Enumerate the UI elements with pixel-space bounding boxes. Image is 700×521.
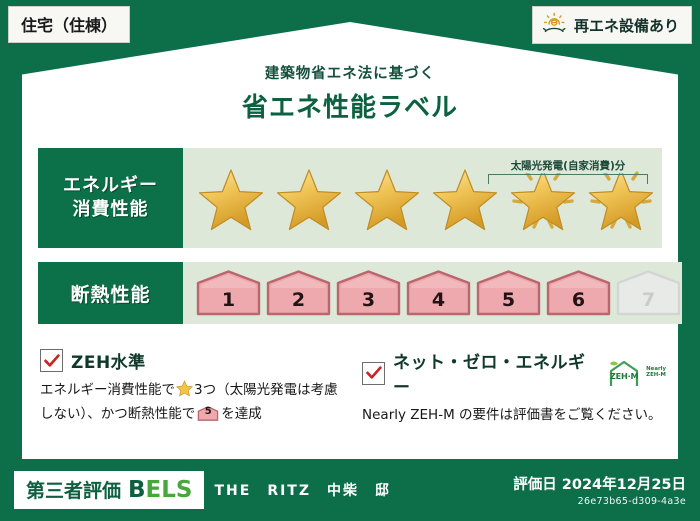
red-check-icon <box>362 362 385 385</box>
gold-star-icon-inline <box>176 385 193 401</box>
zeh-m-logo-sublabel: Nearly ZEH-M <box>646 367 666 378</box>
insulation-level-value: 3 <box>335 270 402 316</box>
renewable-equipment-badge: 再エネ設備あり <box>532 6 692 44</box>
insulation-level-value: 2 <box>265 270 332 316</box>
building-type-tag: 住宅（住棟） <box>8 6 130 43</box>
gold-star-icon <box>271 160 347 236</box>
bels-third-party-label: 第三者評価 <box>26 476 121 503</box>
zeh-standard-title: ZEH水準 <box>71 348 146 373</box>
insulation-level-value: 7 <box>615 270 682 316</box>
insulation-rating-field: 1234567 <box>183 262 682 324</box>
zeh-m-logo-text: ZEH·M <box>604 371 644 381</box>
net-zero-energy-heading: ネット・ゼロ・エネルギー ZEH·M Nearly ZEH-M <box>362 348 666 398</box>
criteria-info-block: ZEH水準 エネルギー消費性能で3つ（太陽光発電は考慮しない）、かつ断熱性能で5… <box>40 348 666 426</box>
zeh-m-logo-house: ZEH·M <box>604 359 644 387</box>
evaluation-id: 26e73b65-d309-4a3e <box>513 496 686 507</box>
evaluation-date: 評価日 2024年12月25日 <box>513 473 686 494</box>
energy-label-line2: 消費性能 <box>73 198 149 222</box>
insulation-level-6: 6 <box>545 270 612 316</box>
zeh-desc-part3: を達成 <box>221 406 262 422</box>
insulation-performance-row-label: 断熱性能 <box>38 262 183 324</box>
label-footer: 第三者評価 BELS THE RITZ 中柴 邸 評価日 2024年12月25日… <box>0 459 700 521</box>
insulation-level-2: 2 <box>265 270 332 316</box>
gold-star-sparkle-icon <box>583 160 659 236</box>
property-name: THE RITZ 中柴 邸 <box>214 480 391 500</box>
gold-star-icon <box>427 160 503 236</box>
zeh-standard-heading: ZEH水準 <box>40 348 338 373</box>
insulation-level-5: 5 <box>475 270 542 316</box>
insulation-level-7: 7 <box>615 270 682 316</box>
renewable-equipment-badge-label: 再エネ設備あり <box>574 15 679 36</box>
insulation-level-value: 4 <box>405 270 472 316</box>
insulation-level-4: 4 <box>405 270 472 316</box>
zeh-standard-description: エネルギー消費性能で3つ（太陽光発電は考慮しない）、かつ断熱性能で5を達成 <box>40 380 338 425</box>
evaluation-meta: 評価日 2024年12月25日 26e73b65-d309-4a3e <box>513 473 686 507</box>
net-zero-energy-column: ネット・ゼロ・エネルギー ZEH·M Nearly ZEH-M N <box>362 348 666 426</box>
zeh-desc-part1: エネルギー消費性能で <box>40 382 175 398</box>
energy-performance-row: エネルギー 消費性能 太陽光発電(自家消費)分 <box>38 148 662 248</box>
label-subtitle: 建築物省エネ法に基づく <box>0 62 700 83</box>
zeh-m-logo: ZEH·M Nearly ZEH-M <box>604 359 666 387</box>
red-check-icon <box>40 349 63 372</box>
net-zero-energy-description: Nearly ZEH-M の要件は評価書をご覧ください。 <box>362 405 666 426</box>
insulation-level-3: 3 <box>335 270 402 316</box>
label-main-title: 省エネ性能ラベル <box>0 87 700 124</box>
bels-wordmark-b: B <box>128 477 146 503</box>
bels-certification-mark: 第三者評価 BELS <box>14 471 204 509</box>
insulation-level-value: 5 <box>475 270 542 316</box>
gold-star-icon <box>193 160 269 236</box>
gold-star-icon <box>349 160 425 236</box>
sun-solar-icon <box>541 11 567 39</box>
energy-label-line1: エネルギー <box>63 174 158 198</box>
energy-performance-label: 住宅（住棟） 再 <box>0 0 700 521</box>
energy-performance-rating-field: 太陽光発電(自家消費)分 <box>183 148 662 248</box>
gold-star-sparkle-icon <box>505 160 581 236</box>
label-title-block: 建築物省エネ法に基づく 省エネ性能ラベル <box>0 62 700 124</box>
insulation-level-1: 1 <box>195 270 262 316</box>
insulation-level-value: 6 <box>545 270 612 316</box>
energy-performance-row-label: エネルギー 消費性能 <box>38 148 183 248</box>
bels-wordmark: BELS <box>128 477 192 503</box>
star-rating-group <box>183 160 659 236</box>
bels-wordmark-els: ELS <box>146 477 193 503</box>
insulation-performance-row: 断熱性能 1234567 <box>38 262 662 324</box>
insulation-level-icon-value: 5 <box>197 406 219 421</box>
zeh-m-logo-sub-line2: ZEH-M <box>646 373 666 379</box>
net-zero-energy-title: ネット・ゼロ・エネルギー <box>393 348 592 398</box>
insulation-level-icon-inline: 5 <box>197 406 219 421</box>
insulation-level-value: 1 <box>195 270 262 316</box>
zeh-standard-column: ZEH水準 エネルギー消費性能で3つ（太陽光発電は考慮しない）、かつ断熱性能で5… <box>40 348 338 426</box>
insulation-level-group: 1234567 <box>183 270 682 316</box>
